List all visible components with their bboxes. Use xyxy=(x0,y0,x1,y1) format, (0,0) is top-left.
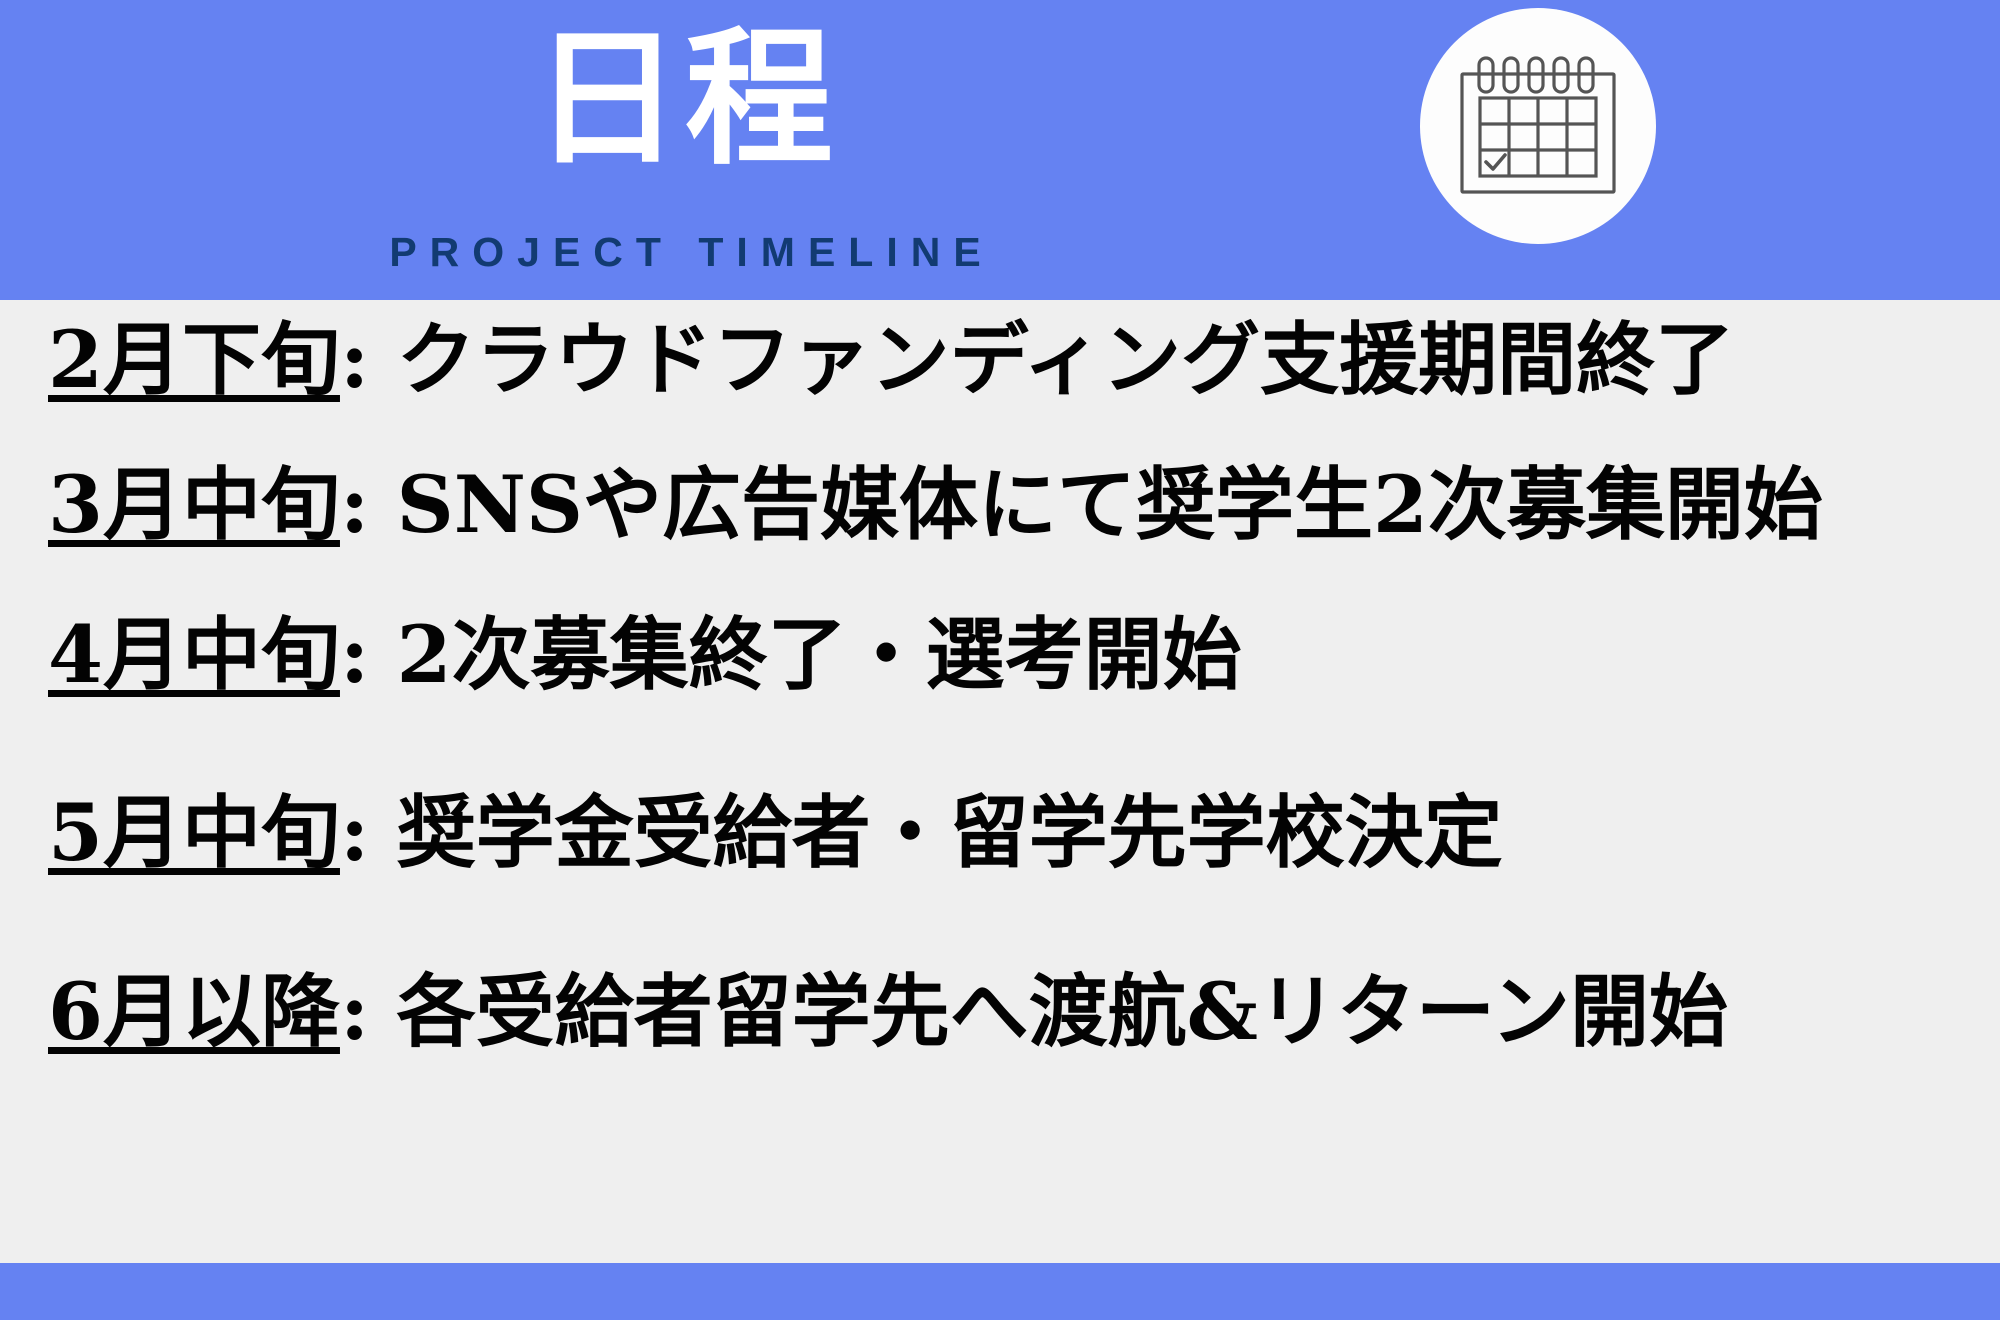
timeline-date-label: 6月以降 xyxy=(48,965,340,1058)
list-item: 2月下旬: クラウドファンディング支援期間終了 xyxy=(48,320,1978,399)
timeline-date-label: 2月下旬 xyxy=(48,313,340,406)
timeline-description: 各受給者留学先へ渡航&リターン開始 xyxy=(397,965,1728,1058)
header-text-group: 日程 PROJECT TIMELINE xyxy=(0,0,1370,300)
timeline-separator: : xyxy=(340,608,397,701)
timeline-separator: : xyxy=(340,786,397,879)
timeline-description: 奨学金受給者・留学先学校決定 xyxy=(397,786,1503,879)
footer-bar xyxy=(0,1263,2000,1320)
timeline-date-label: 5月中旬 xyxy=(48,786,340,879)
timeline-list: 2月下旬: クラウドファンディング支援期間終了 3月中旬: SNSや広告媒体にて… xyxy=(0,300,2000,1263)
list-item: 3月中旬: SNSや広告媒体にて奨学生2次募集開始 xyxy=(48,465,1978,544)
list-item: 4月中旬: 2次募集終了・選考開始 xyxy=(48,615,1978,694)
timeline-separator: : xyxy=(340,458,397,551)
timeline-description: SNSや広告媒体にて奨学生2次募集開始 xyxy=(397,458,1823,551)
timeline-date-label: 3月中旬 xyxy=(48,458,340,551)
list-item: 6月以降: 各受給者留学先へ渡航&リターン開始 xyxy=(48,972,1978,1051)
timeline-date-label: 4月中旬 xyxy=(48,608,340,701)
calendar-icon-badge xyxy=(1420,8,1656,244)
page-subtitle: PROJECT TIMELINE xyxy=(0,228,1370,276)
timeline-description: クラウドファンディング支援期間終了 xyxy=(397,313,1734,406)
page-title: 日程 xyxy=(0,8,1370,188)
slide-root: 日程 PROJECT TIMELINE xyxy=(0,0,2000,1320)
timeline-separator: : xyxy=(340,965,397,1058)
list-item: 5月中旬: 奨学金受給者・留学先学校決定 xyxy=(48,793,1978,872)
header-banner: 日程 PROJECT TIMELINE xyxy=(0,0,2000,300)
timeline-separator: : xyxy=(340,313,397,406)
timeline-description: 2次募集終了・選考開始 xyxy=(397,608,1242,701)
